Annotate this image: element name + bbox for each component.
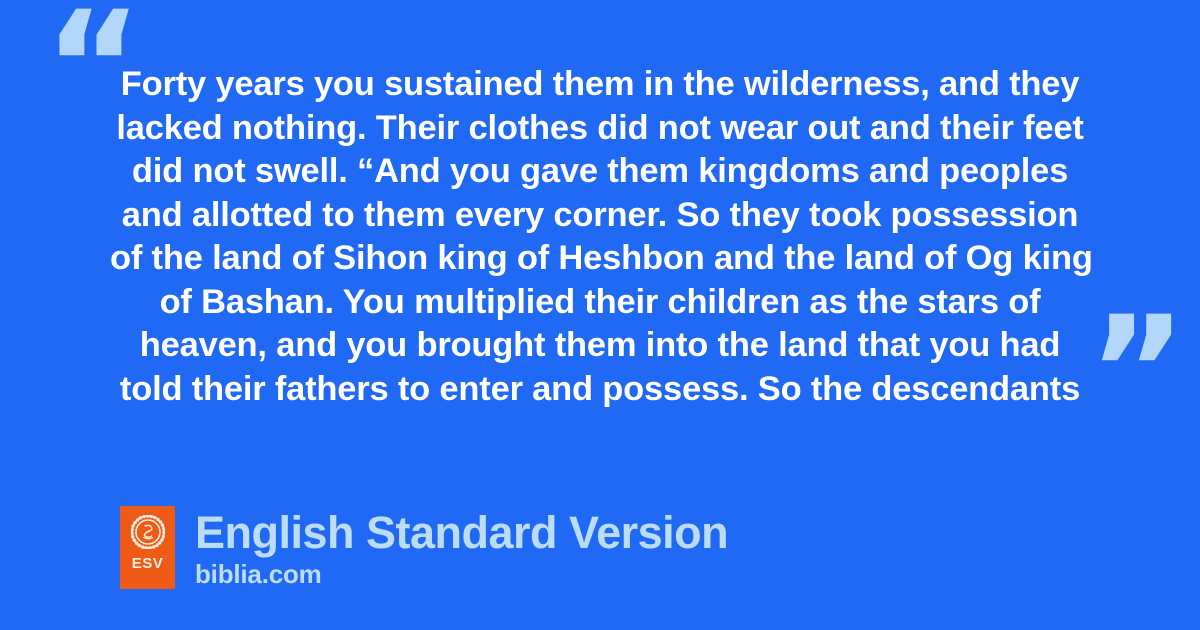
esv-logo: ESV [120, 506, 175, 589]
closing-quote-mark: ” [1088, 297, 1185, 447]
quote-line: lacked nothing. Their clothes did not we… [110, 107, 1090, 151]
quote-line: of the land of Sihon king of Heshbon and… [110, 237, 1090, 281]
quote-line: told their fathers to enter and possess.… [110, 368, 1090, 412]
quote-line: of Bashan. You multiplied their children… [110, 281, 1090, 325]
quote-poster: “ Forty years you sustained them in the … [0, 0, 1200, 630]
brand-text-group: English Standard Version biblia.com [195, 506, 728, 589]
site-url: biblia.com [195, 559, 728, 589]
esv-seal-icon [131, 515, 165, 549]
brand-footer: ESV English Standard Version biblia.com [120, 506, 728, 589]
quote-line: Forty years you sustained them in the wi… [110, 63, 1090, 107]
quote-line: and allotted to them every corner. So th… [110, 194, 1090, 238]
quote-text-block: Forty years you sustained them in the wi… [110, 63, 1090, 411]
quote-line: did not swell. “And you gave them kingdo… [110, 150, 1090, 194]
quote-line: heaven, and you brought them into the la… [110, 324, 1090, 368]
translation-title: English Standard Version [195, 508, 728, 558]
esv-logo-abbreviation: ESV [132, 556, 164, 571]
